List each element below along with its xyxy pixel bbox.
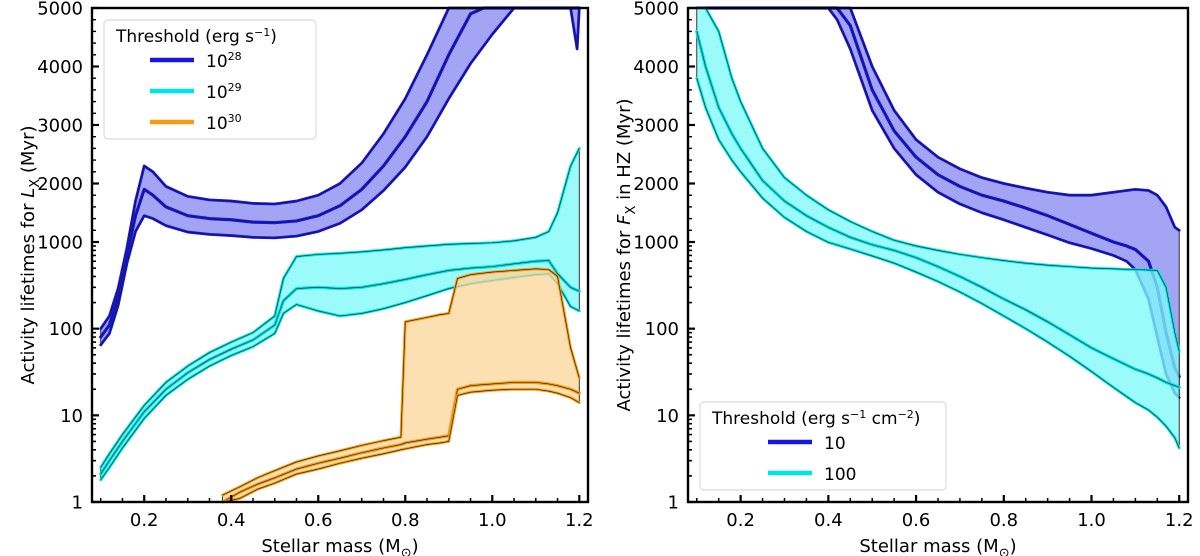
x-tick-label: 1.0 [1077,510,1106,531]
legend-entry-label: 100 [824,465,856,485]
y-tick-label: 1000 [633,233,679,254]
y-tick-label: 2000 [633,174,679,195]
x-tick-label: 0.8 [989,510,1018,531]
y-tick-label: 5000 [633,0,679,20]
y-axis: 11010010002000300040005000 [37,0,99,514]
y-tick-label: 10 [656,406,679,427]
y-tick-label: 3000 [633,116,679,137]
x-axis-label: Stellar mass (M⊙) [859,536,1016,556]
y-tick-label: 3000 [37,116,83,137]
x-tick-label: 0.2 [726,510,755,531]
legend-left: Threshold (erg s−1)102810291030 [104,20,316,139]
legend-title: Threshold (erg s−1 cm−2) [711,408,920,429]
y-tick-label: 1000 [37,233,83,254]
x-tick-label: 0.6 [304,510,333,531]
x-tick-label: 0.4 [217,510,246,531]
x-tick-label: 1.2 [565,510,594,531]
x-tick-label: 1.0 [478,510,507,531]
y-tick-label: 4000 [633,57,679,78]
x-tick-label: 0.2 [130,510,159,531]
panel-left: 110100100020003000400050000.20.40.60.81.… [0,0,600,556]
y-axis-label: Activity lifetimes for LX (Myr) [18,126,43,385]
y-tick-label: 100 [49,319,83,340]
x-tick-label: 0.4 [814,510,843,531]
y-tick-label: 10 [60,406,83,427]
x-tick-label: 0.8 [391,510,420,531]
legend-title: Threshold (erg s−1) [115,26,277,47]
x-tick-label: 0.6 [902,510,931,531]
y-tick-label: 1 [72,493,83,514]
y-tick-label: 1 [668,493,679,514]
y-axis: 11010010002000300040005000 [633,0,695,514]
panel-right: 110100100020003000400050000.20.40.60.81.… [600,0,1200,556]
x-axis-label: Stellar mass (M⊙) [261,536,418,556]
legend-right: Threshold (erg s−1 cm−2)10100 [700,402,946,490]
plot-right: 110100100020003000400050000.20.40.60.81.… [600,0,1200,556]
y-tick-label: 100 [645,319,679,340]
y-tick-label: 5000 [37,0,83,20]
figure-root: 110100100020003000400050000.20.40.60.81.… [0,0,1200,556]
legend-entry-label: 10 [824,434,846,454]
y-tick-label: 2000 [37,174,83,195]
y-tick-label: 4000 [37,57,83,78]
plot-left: 110100100020003000400050000.20.40.60.81.… [0,0,600,556]
y-axis-label: Activity lifetimes for FX in HZ (Myr) [614,98,639,411]
x-tick-label: 1.2 [1165,510,1194,531]
